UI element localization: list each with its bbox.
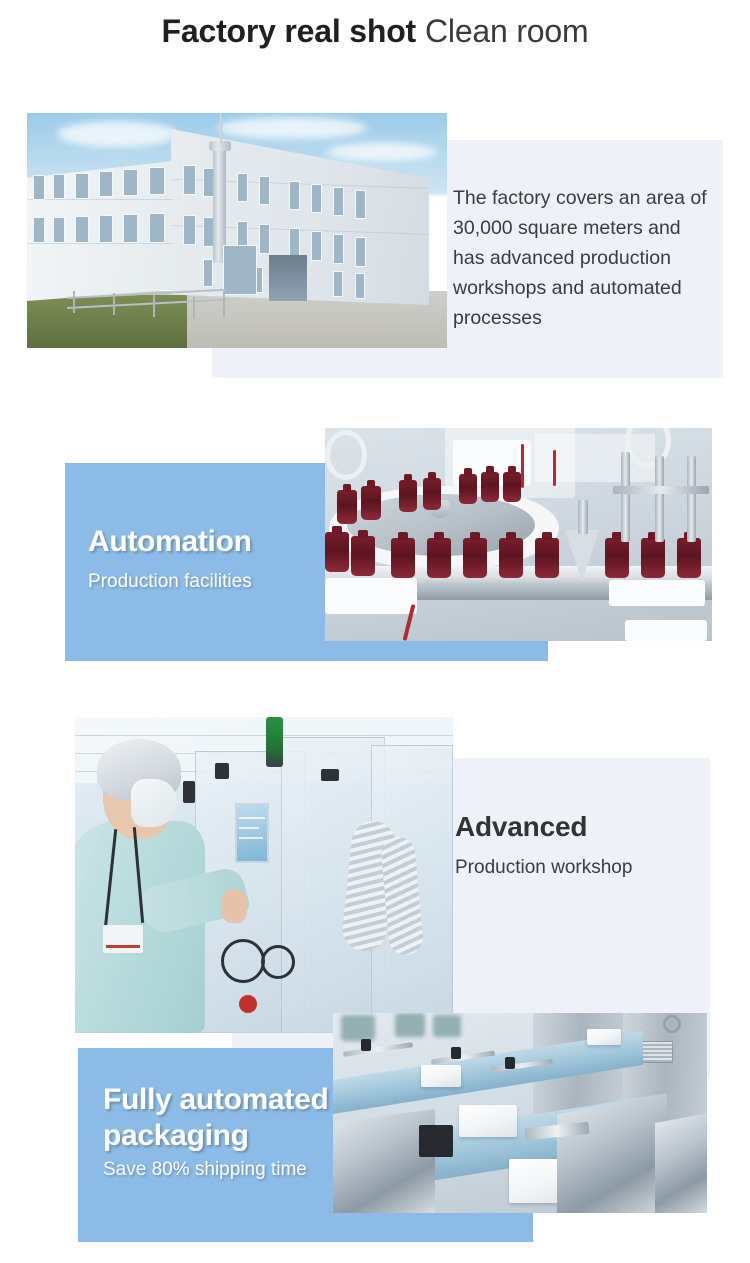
capping-cone <box>565 530 599 582</box>
window <box>237 173 248 202</box>
cloud-shape <box>327 143 437 161</box>
bottle <box>427 538 451 578</box>
screen-row <box>239 827 259 829</box>
bottle <box>391 538 415 578</box>
window <box>183 215 196 245</box>
bottle <box>503 472 521 502</box>
product-carton <box>459 1105 517 1137</box>
bottle <box>641 538 665 578</box>
window <box>183 165 196 195</box>
bottle <box>535 538 559 578</box>
background-machinery <box>433 1015 461 1037</box>
bottle <box>499 538 523 578</box>
window <box>33 175 45 200</box>
bottle <box>463 538 487 578</box>
section-2-heading: Automation <box>88 524 252 560</box>
window <box>149 167 165 195</box>
section-3-subheading: Production workshop <box>455 856 632 880</box>
drive-unit <box>419 1125 453 1157</box>
handwheel <box>261 945 295 979</box>
bottle <box>399 480 417 512</box>
antenna-mast <box>220 113 222 145</box>
loading-door <box>223 245 257 295</box>
background-machinery <box>341 1015 375 1041</box>
guide-knob <box>451 1047 461 1059</box>
operator-face-mask <box>131 779 177 827</box>
gantry-rod <box>687 456 696 542</box>
gantry-rod <box>655 456 664 542</box>
window <box>75 216 89 243</box>
red-tubing <box>553 450 556 486</box>
factory-building-photo <box>27 113 447 348</box>
bottle <box>337 490 357 524</box>
window <box>259 176 270 205</box>
window <box>149 213 165 243</box>
sensor-block <box>215 763 229 779</box>
cloud-shape <box>217 117 367 139</box>
signal-tower-light <box>266 717 283 767</box>
bottle <box>481 472 499 502</box>
bottle-tray <box>625 620 707 641</box>
bottling-line-photo <box>325 428 712 641</box>
ceiling-grid-line <box>75 735 453 736</box>
red-tubing <box>521 444 524 488</box>
window <box>203 259 213 287</box>
window <box>355 237 366 267</box>
capping-shaft <box>578 500 588 534</box>
packaging-conveyor-photo <box>333 1013 707 1213</box>
section-4-heading: Fully automated packaging <box>103 1082 333 1154</box>
screen-row <box>239 817 265 819</box>
factory-showcase-page: Factory real shotClean room <box>0 0 750 1263</box>
window <box>333 234 344 264</box>
window <box>355 273 365 299</box>
hmi-touchscreen <box>235 803 269 863</box>
window <box>99 215 113 243</box>
cloud-shape <box>57 121 177 147</box>
section-2-subheading: Production facilities <box>88 570 252 594</box>
section-1-paragraph: The factory covers an area of 30,000 squ… <box>453 183 716 333</box>
guide-knob <box>505 1057 515 1069</box>
window <box>311 184 322 213</box>
railing-post <box>223 291 225 317</box>
operator-id-badge <box>103 925 143 953</box>
railing-post <box>73 291 75 313</box>
operator-hand <box>221 889 247 923</box>
window <box>289 181 300 210</box>
window <box>75 173 89 199</box>
round-dial <box>663 1015 681 1033</box>
handwheel <box>221 939 265 983</box>
gantry-rod <box>621 452 630 542</box>
railing-post <box>153 295 155 317</box>
sensor-block <box>321 769 339 781</box>
window <box>333 187 344 216</box>
facade-band <box>27 199 173 200</box>
bottle <box>351 536 375 576</box>
bottle <box>423 478 441 510</box>
window <box>333 271 343 297</box>
white-hose <box>325 430 367 480</box>
page-title-light: Clean room <box>425 13 588 49</box>
entrance-door <box>269 255 307 301</box>
bottle <box>605 538 629 578</box>
cleanroom-operator-photo <box>75 717 453 1033</box>
sensor-block <box>183 781 195 803</box>
badge-stripe <box>106 945 140 948</box>
window <box>123 169 138 196</box>
railing-post <box>113 293 115 315</box>
bottle <box>361 486 381 520</box>
window <box>355 190 366 219</box>
screen-row <box>239 837 263 839</box>
bottle <box>677 538 701 578</box>
bottle-tray <box>609 580 705 606</box>
page-title-bold: Factory real shot <box>162 13 416 49</box>
window <box>259 224 270 254</box>
guide-block <box>325 578 417 614</box>
window <box>123 214 138 243</box>
page-title: Factory real shotClean room <box>0 13 750 50</box>
background-machinery <box>395 1013 425 1037</box>
window <box>53 174 65 199</box>
facade-band <box>27 243 173 244</box>
product-carton <box>421 1065 461 1087</box>
guide-rail <box>343 1042 413 1057</box>
bottle <box>459 474 477 504</box>
product-carton <box>587 1029 621 1045</box>
section-3-heading: Advanced <box>455 810 587 844</box>
guide-knob <box>361 1039 371 1051</box>
window <box>53 217 65 243</box>
window <box>33 217 45 243</box>
railing-post <box>193 297 195 319</box>
bottle <box>325 532 349 572</box>
gantry-crossbar <box>613 486 709 494</box>
window <box>311 231 322 261</box>
window <box>99 171 113 197</box>
emergency-stop-button <box>239 995 257 1013</box>
steel-guard-panel <box>655 1113 707 1213</box>
window <box>289 228 300 258</box>
section-4-subheading: Save 80% shipping time <box>103 1158 307 1182</box>
